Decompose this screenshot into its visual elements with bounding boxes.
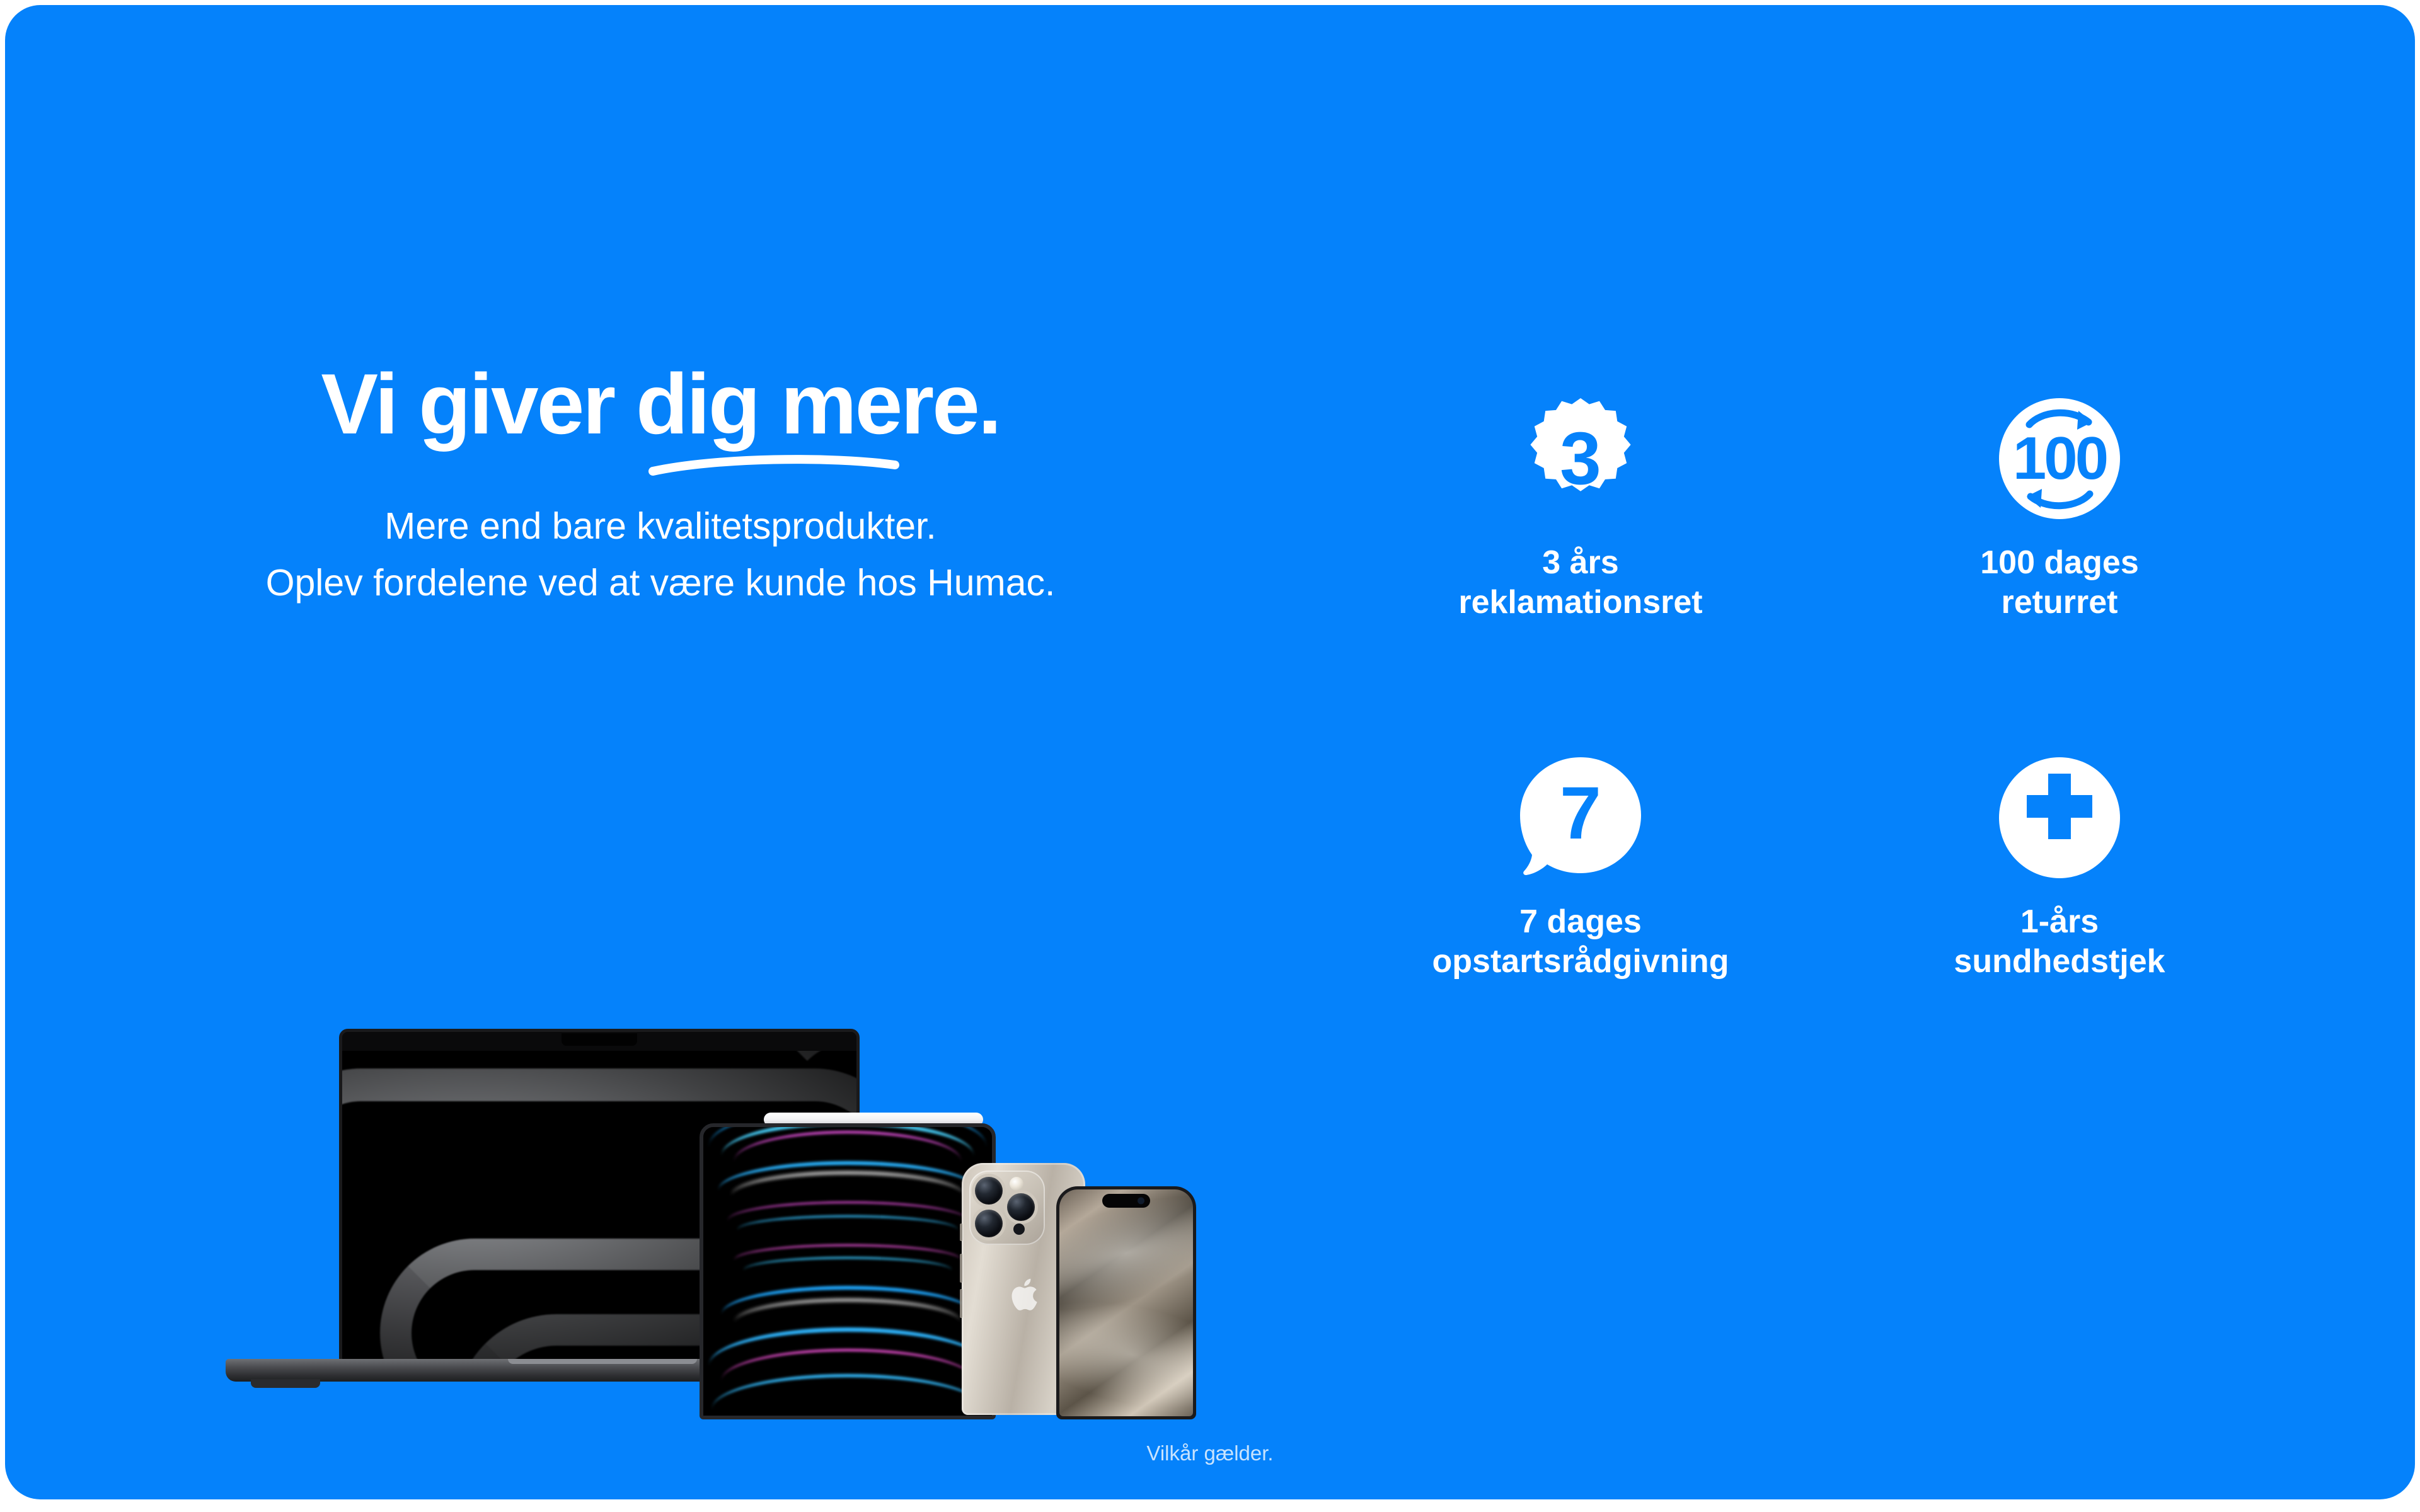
- benefit-label: 7 dages opstartsrådgivning: [1432, 902, 1729, 982]
- front-camera-icon: [1138, 1198, 1144, 1205]
- iphone-volume-down-button: [960, 1289, 962, 1318]
- benefit-item-reklamationsret[interactable]: 3 3 års reklamationsret: [1341, 396, 1820, 730]
- benefit-label: 1-års sundhedstjek: [1954, 902, 2165, 982]
- benefit-number: 7: [1560, 776, 1601, 850]
- camera-lens-ultrawide: [975, 1210, 1003, 1237]
- iphone-camera-module: [969, 1171, 1045, 1245]
- iphone-action-button: [960, 1223, 962, 1241]
- speech-bubble-icon: 7: [1518, 755, 1644, 881]
- macbook-lid-notch: [508, 1359, 697, 1364]
- benefit-number: 100: [2013, 428, 2106, 489]
- benefit-label: 3 års reklamationsret: [1458, 543, 1702, 623]
- benefit-number: 3: [1560, 421, 1601, 496]
- iphone-front: [1056, 1186, 1196, 1419]
- macbook-camera-notch: [562, 1033, 637, 1046]
- return-cycle-icon: 100: [1997, 396, 2123, 522]
- hero-subtext: Mere end bare kvalitetsprodukter. Oplev …: [169, 498, 1152, 611]
- ipad-wallpaper: [703, 1127, 992, 1416]
- rosette-seal-icon: 3: [1518, 396, 1644, 522]
- hero-subtext-line-2: Oplev fordelene ved at være kunde hos Hu…: [169, 555, 1152, 612]
- apple-logo-icon: [1007, 1275, 1040, 1314]
- camera-lens-telephoto: [1007, 1193, 1035, 1221]
- benefit-label: 100 dages returret: [1980, 543, 2139, 623]
- camera-flash-icon: [1010, 1177, 1023, 1191]
- iphone-volume-up-button: [960, 1254, 962, 1283]
- benefits-grid: 3 3 års reklamationsret 100 100 dages re…: [1341, 396, 2299, 1089]
- page-title: Vi giver dig mere.: [169, 358, 1152, 450]
- dynamic-island: [1102, 1194, 1150, 1208]
- macbook-foot: [251, 1379, 320, 1388]
- ipad-pro: [700, 1123, 996, 1419]
- benefit-item-returret[interactable]: 100 100 dages returret: [1820, 396, 2299, 730]
- camera-lens-wide: [975, 1177, 1003, 1205]
- macbook-bezel: [342, 1032, 856, 1051]
- iphone-screen-wallpaper: [1059, 1189, 1193, 1416]
- benefit-item-opstartsraadgivning[interactable]: 7 7 dages opstartsrådgivning: [1341, 755, 1820, 1089]
- disclaimer-text: Vilkår gælder.: [5, 1441, 2415, 1465]
- headline-wrapper: Vi giver dig mere.: [169, 358, 1152, 450]
- lidar-sensor-icon: [1013, 1223, 1025, 1235]
- promo-banner: Vi giver dig mere. Mere end bare kvalite…: [5, 5, 2415, 1499]
- product-lineup-image: [226, 1029, 1310, 1419]
- health-plus-icon: [1997, 755, 2123, 881]
- benefit-item-sundhedstjek[interactable]: 1-års sundhedstjek: [1820, 755, 2299, 1089]
- hero-subtext-line-1: Mere end bare kvalitetsprodukter.: [169, 498, 1152, 555]
- hero-text-block: Vi giver dig mere. Mere end bare kvalite…: [131, 358, 1240, 1114]
